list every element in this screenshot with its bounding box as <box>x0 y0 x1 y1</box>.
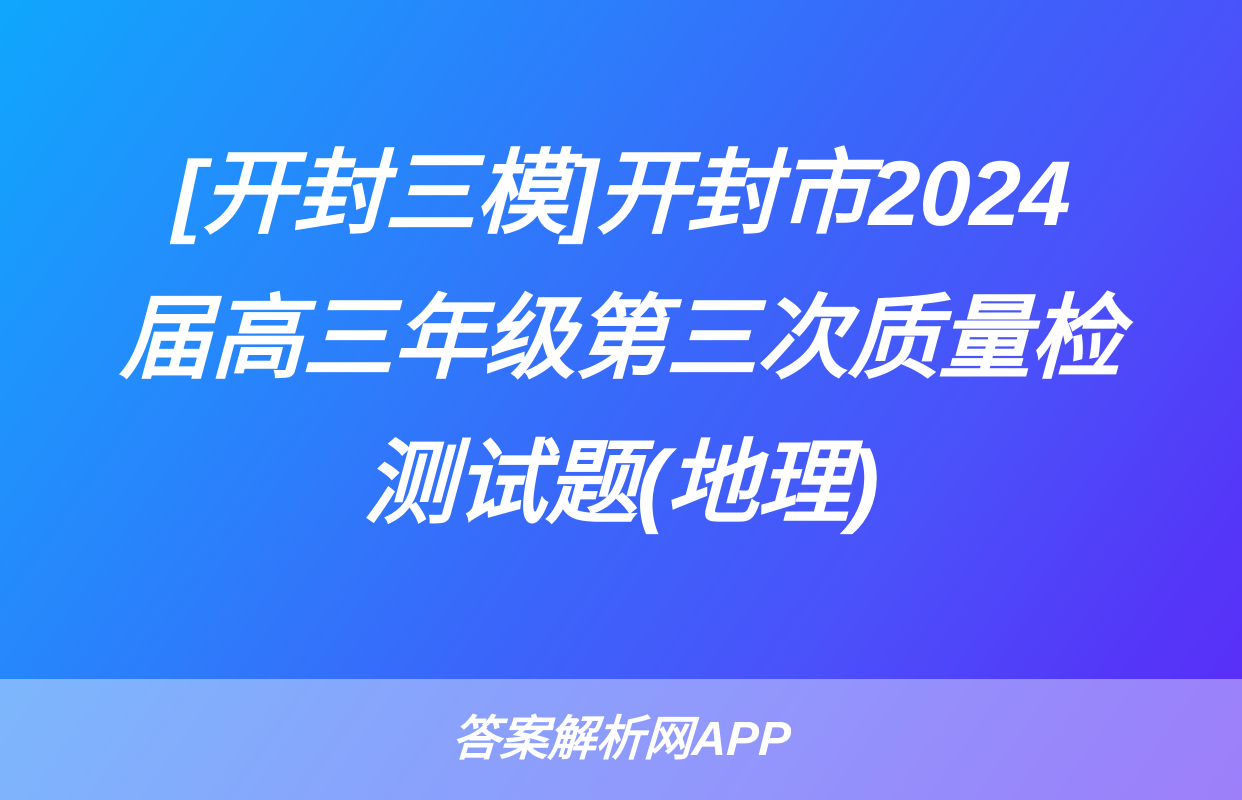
app-watermark-label: 答案解析网APP <box>450 716 791 764</box>
footer-band: 答案解析网APP <box>0 679 1242 800</box>
poster-canvas: [开封三模]开封市2024 届高三年级第三次质量检 测试题(地理) 答案解析网A… <box>0 0 1242 800</box>
title-line-2: 届高三年级第三次质量检 <box>119 267 1123 412</box>
title-block: [开封三模]开封市2024 届高三年级第三次质量检 测试题(地理) <box>0 0 1242 679</box>
title-line-1: [开封三模]开封市2024 <box>171 122 1070 267</box>
title-line-3: 测试题(地理) <box>363 412 880 557</box>
